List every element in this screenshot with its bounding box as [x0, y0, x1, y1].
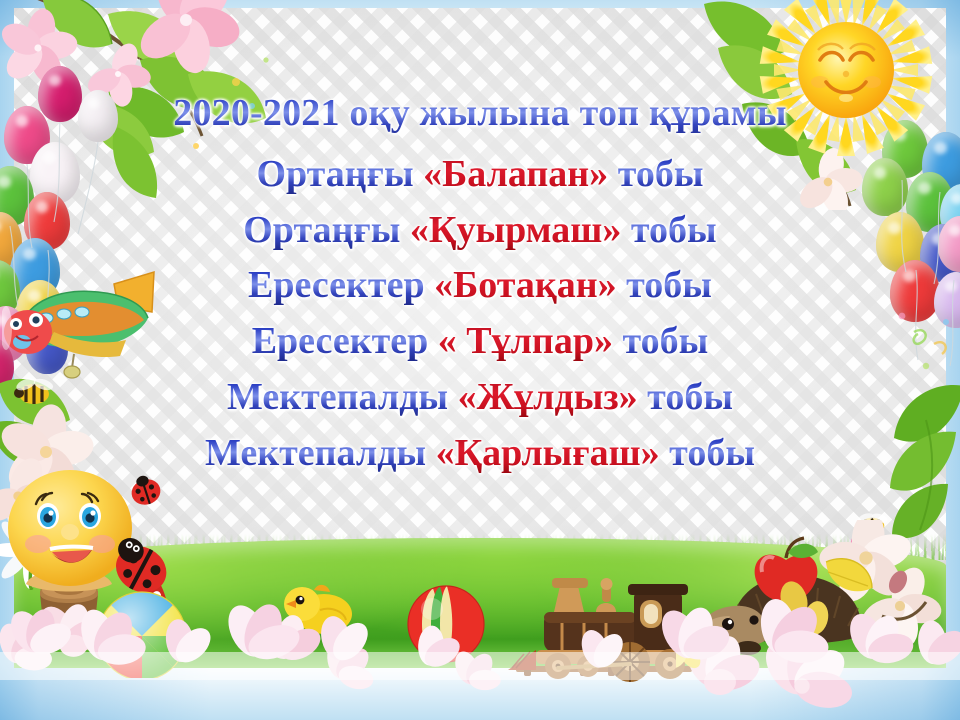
title-line-2: құрамы [649, 92, 787, 134]
list-item: Ортаңғы «Қуырмаш» тобы [0, 203, 960, 259]
list-item: Мектепалды «Жұлдыз» тобы [0, 370, 960, 426]
group-prefix: Ортаңғы [256, 153, 423, 195]
group-suffix: тобы [621, 209, 716, 251]
group-prefix: Ересектер [252, 320, 438, 362]
group-suffix: тобы [660, 432, 755, 474]
group-name: «Жұлдыз» [458, 376, 638, 418]
group-prefix: Мектепалды [227, 376, 458, 418]
poster-canvas: 2020-2021 оқу жылына топ құрамы Ортаңғы … [0, 0, 960, 720]
group-suffix: тобы [617, 264, 712, 306]
group-name: «Қуырмаш» [410, 209, 622, 251]
title-line-1: 2020-2021 оқу жылына топ [173, 92, 639, 134]
list-item: Мектепалды «Қарлығаш» тобы [0, 426, 960, 482]
list-item: Ортаңғы «Балапан» тобы [0, 147, 960, 203]
group-prefix: Ересектер [248, 264, 434, 306]
group-suffix: тобы [613, 320, 708, 362]
group-list: Ортаңғы «Балапан» тобы Ортаңғы «Қуырмаш»… [0, 147, 960, 482]
group-suffix: тобы [608, 153, 703, 195]
group-name: « Тұлпар» [438, 320, 613, 362]
poster-text-block: 2020-2021 оқу жылына топ құрамы Ортаңғы … [0, 86, 960, 482]
group-name: «Балапан» [423, 153, 608, 195]
group-name: «Ботақан» [434, 264, 617, 306]
grass-strip [14, 538, 946, 668]
group-prefix: Мектепалды [205, 432, 436, 474]
group-name: «Қарлығаш» [436, 432, 660, 474]
page-title: 2020-2021 оқу жылына топ құрамы [160, 86, 800, 141]
list-item: Ересектер «Ботақан» тобы [0, 258, 960, 314]
list-item: Ересектер « Тұлпар» тобы [0, 314, 960, 370]
group-suffix: тобы [638, 376, 733, 418]
group-prefix: Ортаңғы [243, 209, 410, 251]
